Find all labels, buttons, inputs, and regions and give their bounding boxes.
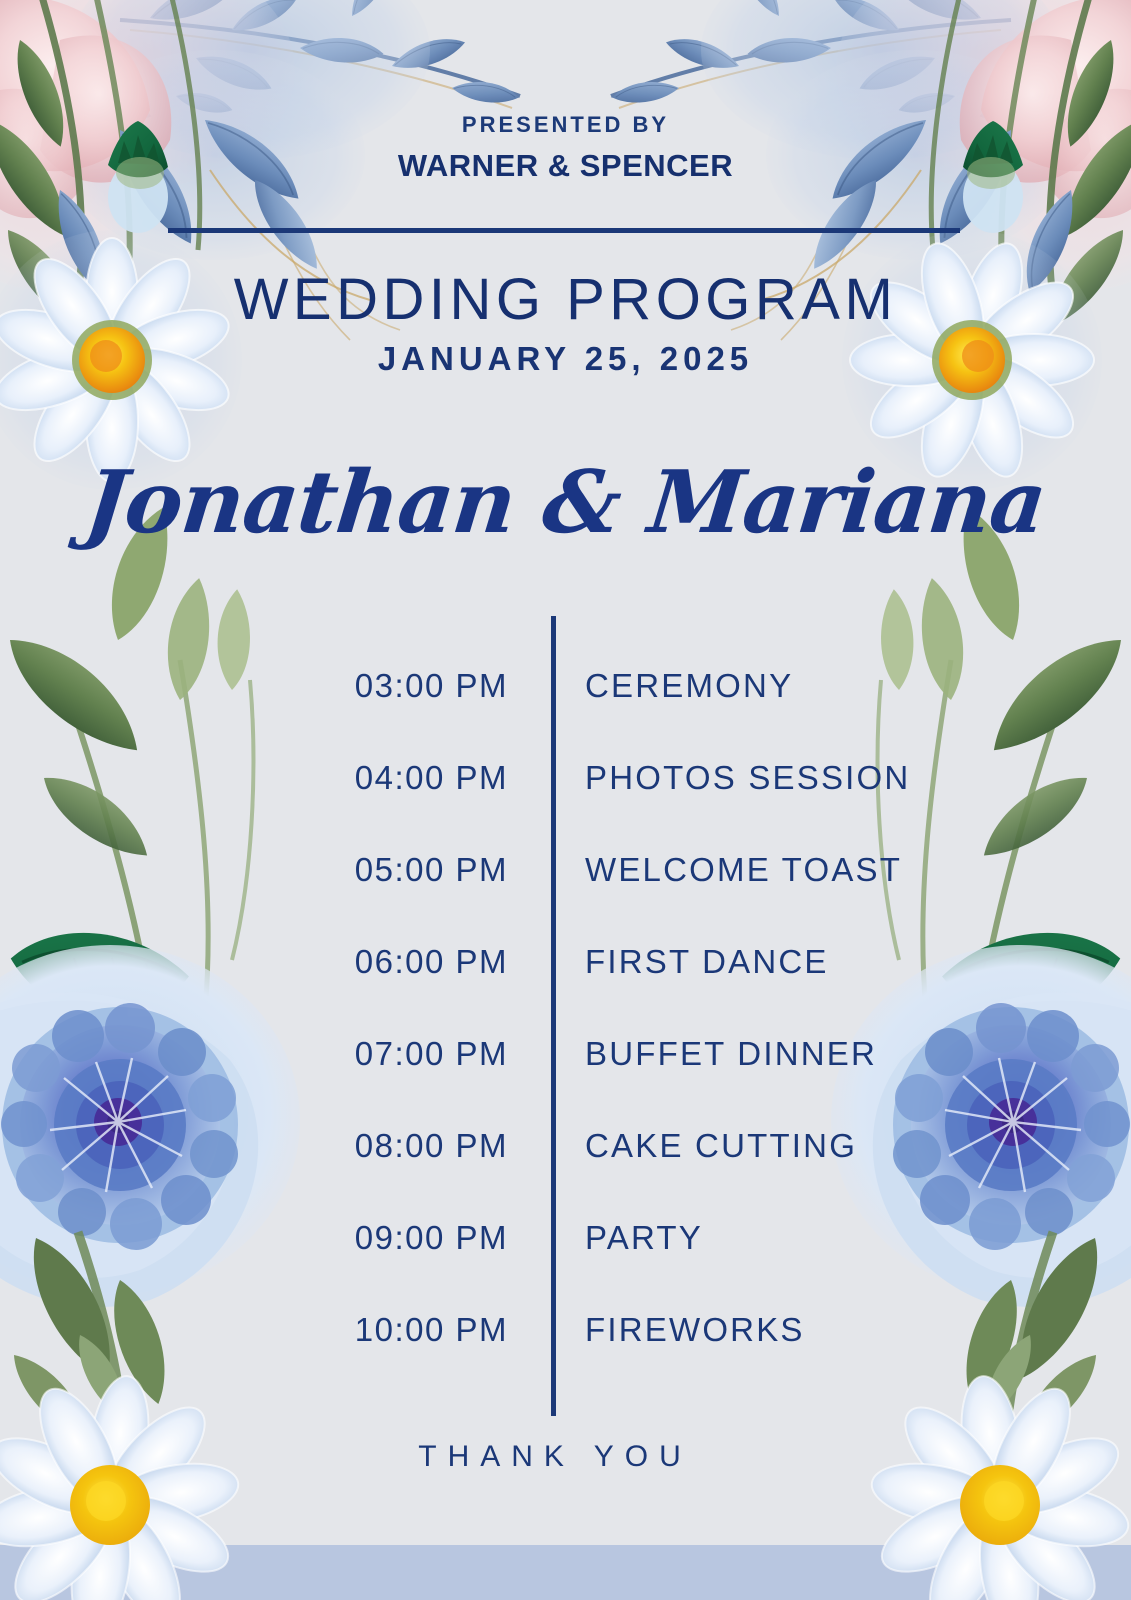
bottom-daisy-layer (0, 0, 1131, 1600)
bottom-left-daisy (0, 1328, 243, 1600)
wedding-program-poster: PRESENTED BY WARNER & SPENCER WEDDING PR… (0, 0, 1131, 1600)
bottom-right-daisy (867, 1328, 1131, 1600)
bottom-daisies (0, 0, 1131, 1600)
